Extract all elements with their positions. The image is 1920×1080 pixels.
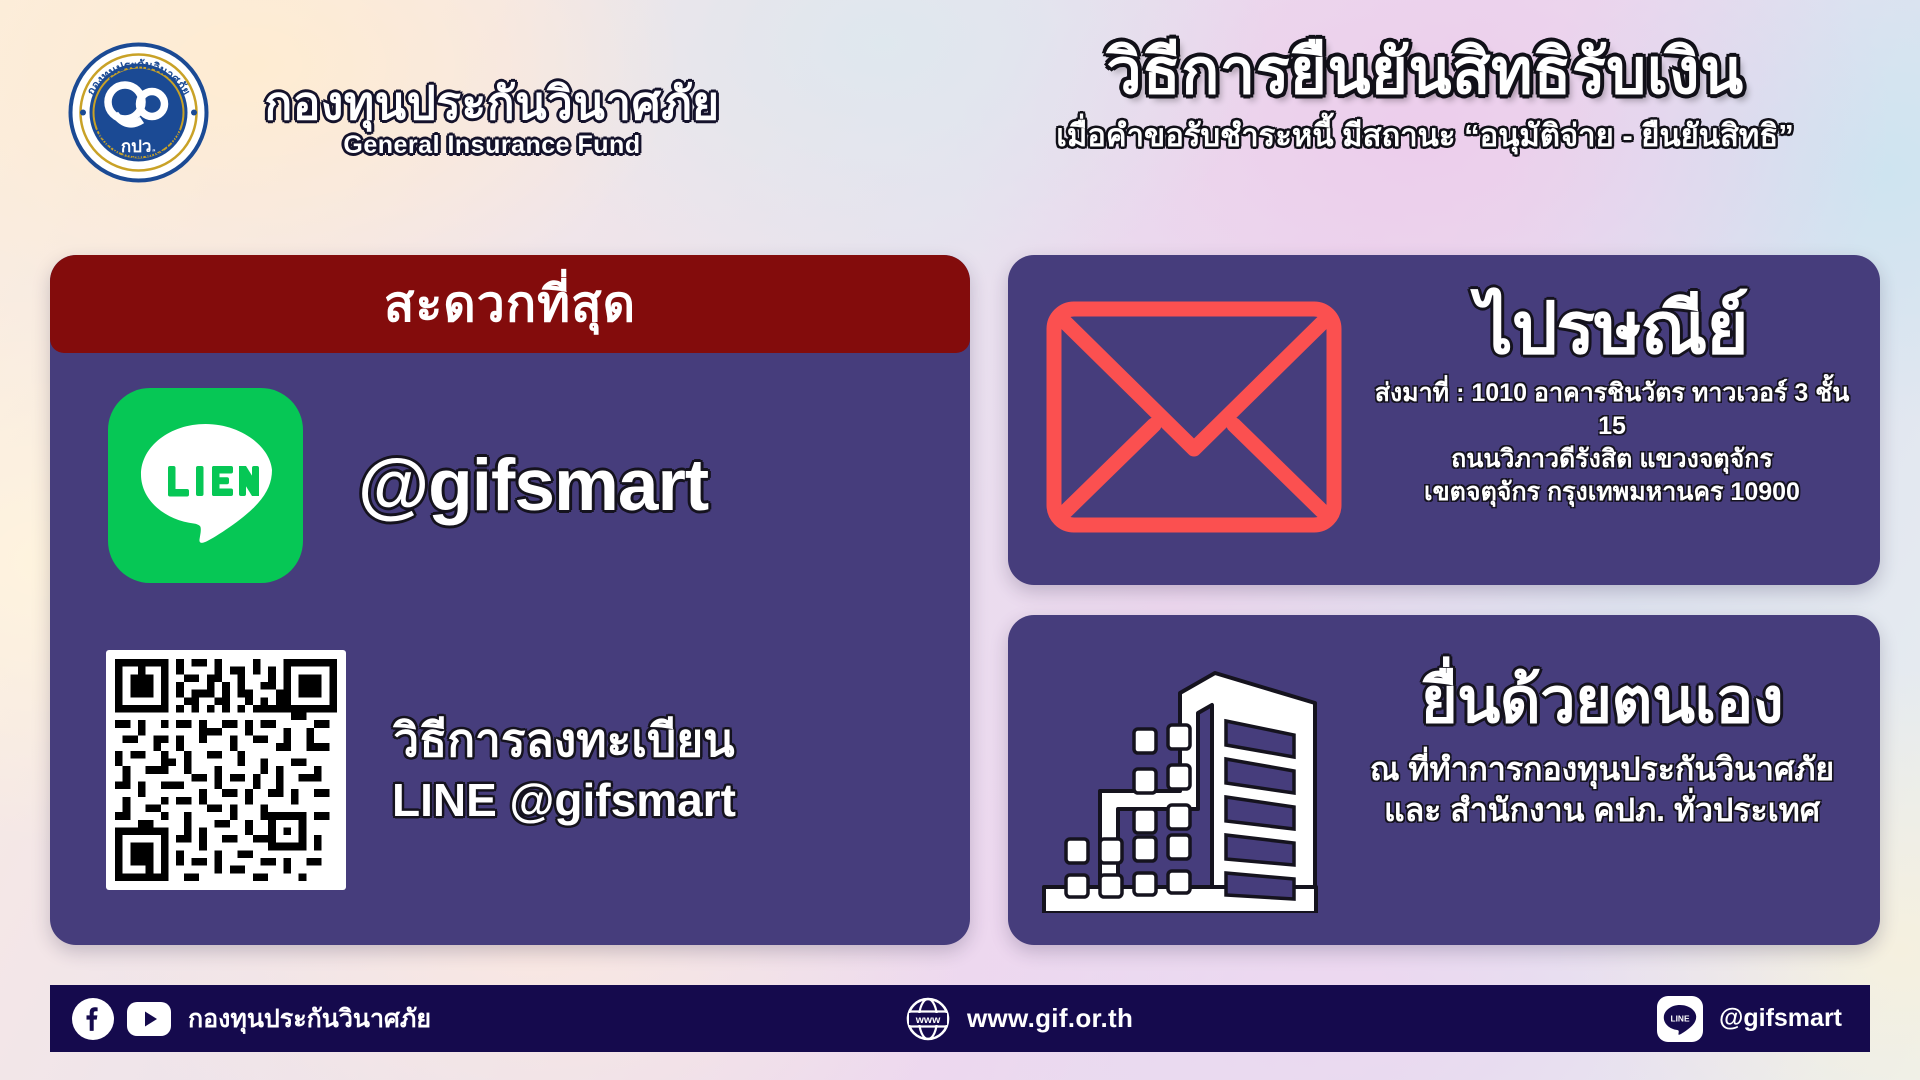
organisation-names: กองทุนประกันวินาศภัย General Insurance F… bbox=[212, 78, 772, 160]
svg-text:LINE: LINE bbox=[1670, 1013, 1689, 1023]
footer-line-handle: @gifsmart bbox=[1719, 1004, 1842, 1033]
qr-caption-line-1: วิธีการลงทะเบียน bbox=[392, 710, 736, 770]
org-name-thai: กองทุนประกันวินาศภัย bbox=[212, 78, 772, 128]
postal-address-line-1: ส่งมาที่ : 1010 อาคารชินวัตร ทาวเวอร์ 3 … bbox=[1360, 377, 1864, 443]
qr-caption: วิธีการลงทะเบียน LINE @gifsmart bbox=[392, 710, 736, 830]
most-convenient-banner: สะดวกที่สุด bbox=[50, 255, 970, 353]
org-name-english: General Insurance Fund bbox=[212, 130, 772, 160]
envelope-icon bbox=[1044, 299, 1344, 535]
qr-caption-line-2: LINE @gifsmart bbox=[392, 770, 736, 830]
line-handle-row: @gifsmart bbox=[50, 363, 970, 608]
header: กปว. กองทุนประกันวินาศภัย General Insura… bbox=[0, 0, 1920, 215]
qr-code-icon[interactable] bbox=[106, 650, 346, 890]
facebook-icon[interactable] bbox=[70, 996, 116, 1042]
line-app-icon bbox=[108, 388, 303, 583]
line-channel-card: สะดวกที่สุด bbox=[50, 255, 970, 945]
in-person-title: ยื่นด้วยตนเอง bbox=[1338, 663, 1866, 739]
gif-seal-logo-icon: กปว. กองทุนประกันวินาศภัย General Insura… bbox=[66, 40, 211, 185]
footer-website-group: www www.gif.or.th bbox=[905, 996, 1133, 1042]
footer-social-label: กองทุนประกันวินาศภัย bbox=[188, 999, 431, 1039]
footer-line-group: LINE @gifsmart bbox=[1657, 996, 1842, 1042]
page-title: วิธีการยืนยันสิทธิรับเงิน bbox=[960, 36, 1890, 108]
header-titles: วิธีการยืนยันสิทธิรับเงิน เมื่อคำขอรับชำ… bbox=[960, 36, 1890, 155]
in-person-sub-line-2: และ สำนักงาน คปภ. ทั่วประเทศ bbox=[1338, 790, 1866, 831]
postal-title: ไปรษณีย์ bbox=[1360, 285, 1864, 373]
office-building-icon bbox=[1030, 651, 1330, 913]
footer-social-group: กองทุนประกันวินาศภัย bbox=[70, 996, 431, 1042]
footer-website-url[interactable]: www.gif.or.th bbox=[967, 1003, 1133, 1034]
line-icon[interactable]: LINE bbox=[1657, 996, 1703, 1042]
line-handle-text: @gifsmart bbox=[358, 444, 708, 527]
infographic-canvas: กปว. กองทุนประกันวินาศภัย General Insura… bbox=[0, 0, 1920, 1080]
most-convenient-label: สะดวกที่สุด bbox=[384, 265, 636, 344]
footer-bar: กองทุนประกันวินาศภัย www www.gif.or.th L… bbox=[50, 985, 1870, 1052]
in-person-sub-line-1: ณ ที่ทำการกองทุนประกันวินาศภัย bbox=[1338, 749, 1866, 790]
postal-address-line-3: เขตจตุจักร กรุงเทพมหานคร 10900 bbox=[1360, 476, 1864, 509]
postal-texts: ไปรษณีย์ ส่งมาที่ : 1010 อาคารชินวัตร ทา… bbox=[1360, 285, 1864, 509]
postal-address-line-2: ถนนวิภาวดีรังสิต แขวงจตุจักร bbox=[1360, 443, 1864, 476]
postal-mail-card: ไปรษณีย์ ส่งมาที่ : 1010 อาคารชินวัตร ทา… bbox=[1008, 255, 1880, 585]
qr-row: วิธีการลงทะเบียน LINE @gifsmart bbox=[50, 610, 970, 930]
youtube-icon[interactable] bbox=[126, 996, 172, 1042]
svg-text:www: www bbox=[915, 1014, 941, 1026]
in-person-texts: ยื่นด้วยตนเอง ณ ที่ทำการกองทุนประกันวินา… bbox=[1338, 663, 1866, 831]
in-person-card: ยื่นด้วยตนเอง ณ ที่ทำการกองทุนประกันวินา… bbox=[1008, 615, 1880, 945]
page-subtitle: เมื่อคำขอรับชำระหนี้ มีสถานะ “อนุมัติจ่า… bbox=[960, 117, 1890, 155]
www-globe-icon: www bbox=[905, 996, 951, 1042]
